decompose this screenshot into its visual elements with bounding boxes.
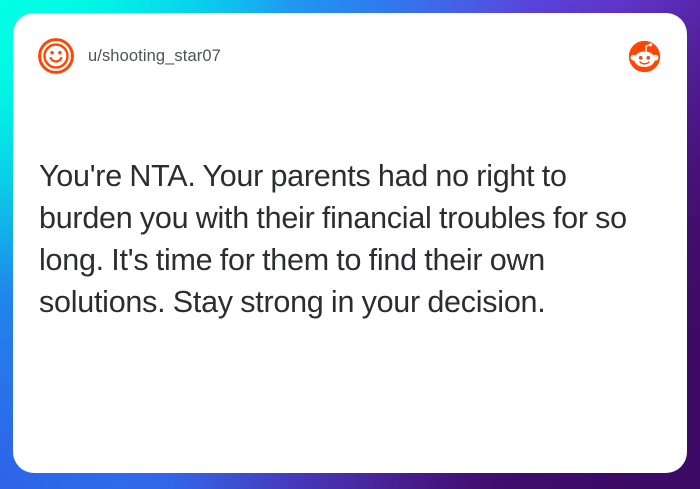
card-body: You're NTA. Your parents had no right to… [39,155,663,323]
card-header: u/shooting_star07 [13,13,687,99]
reddit-comment-card: u/shooting_star07 You're N [13,13,687,473]
comment-text: You're NTA. Your parents had no right to… [39,155,663,323]
smiley-face-icon [37,37,75,75]
author-username: u/shooting_star07 [88,47,221,66]
reddit-snoo-icon[interactable] [628,40,661,73]
author-block[interactable]: u/shooting_star07 [37,37,221,75]
screenshot-canvas: u/shooting_star07 You're N [0,0,700,489]
